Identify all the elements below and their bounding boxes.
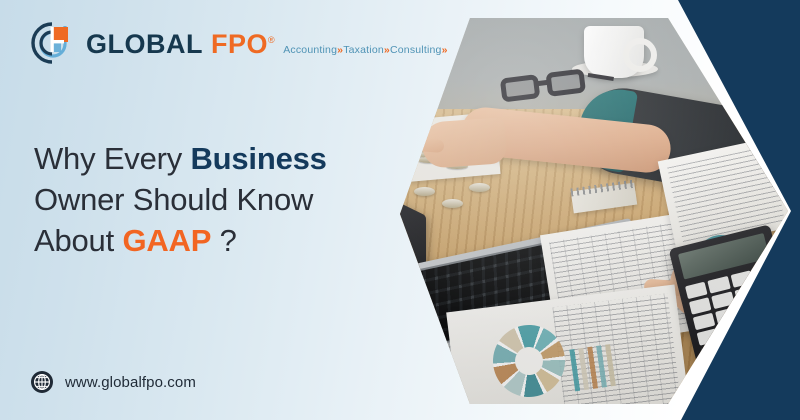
marketing-banner: GLOBAL FPO® Accounting»Taxation»Consulti… bbox=[0, 0, 800, 420]
banner-content: GLOBAL FPO® Accounting»Taxation»Consulti… bbox=[0, 0, 800, 420]
website-url-text: www.globalfpo.com bbox=[65, 374, 196, 391]
logo-word-fpo: FPO bbox=[211, 29, 268, 59]
brand-logo[interactable]: GLOBAL FPO® Accounting»Taxation»Consulti… bbox=[28, 18, 448, 68]
page-title: Why Every Business Owner Should Know Abo… bbox=[34, 138, 327, 261]
headline-line-1: Why Every Business bbox=[34, 138, 327, 179]
tagline-taxation: Taxation bbox=[343, 44, 384, 56]
headline-line3-normal: About bbox=[34, 223, 122, 258]
global-fpo-logomark-icon bbox=[28, 18, 78, 68]
tagline-accounting: Accounting bbox=[283, 44, 337, 56]
registered-mark: ® bbox=[268, 35, 275, 45]
headline-line-3: About GAAP ? bbox=[34, 220, 327, 261]
brand-tagline: Accounting»Taxation»Consulting» bbox=[283, 44, 447, 56]
globe-icon bbox=[30, 370, 54, 394]
headline-emphasis-business: Business bbox=[190, 141, 326, 176]
headline-emphasis-gaap: GAAP bbox=[122, 223, 211, 258]
website-link[interactable]: www.globalfpo.com bbox=[30, 370, 196, 394]
tagline-separator: » bbox=[442, 44, 448, 56]
brand-logo-text: GLOBAL FPO® Accounting»Taxation»Consulti… bbox=[86, 29, 448, 58]
tagline-consulting: Consulting bbox=[390, 44, 442, 56]
headline-line-2: Owner Should Know bbox=[34, 179, 327, 220]
headline-question-mark: ? bbox=[211, 223, 236, 258]
logo-word-global: GLOBAL bbox=[86, 29, 203, 59]
headline-line1-normal: Why Every bbox=[34, 141, 190, 176]
